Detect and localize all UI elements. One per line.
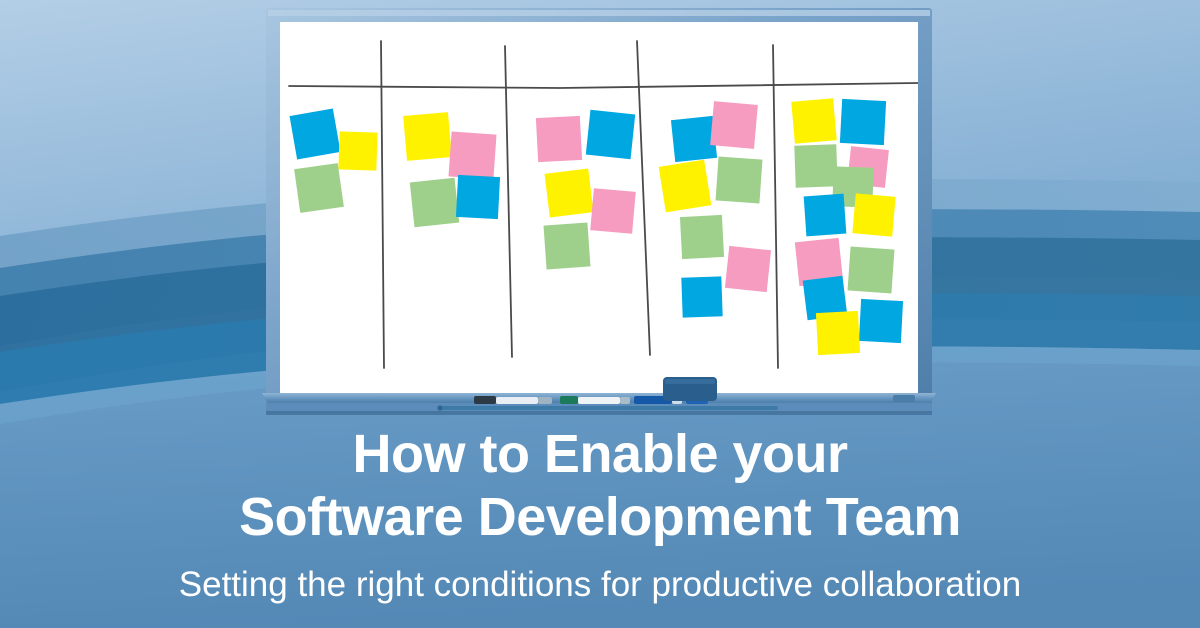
whiteboard bbox=[0, 0, 1200, 628]
sticky-note-green bbox=[848, 247, 895, 294]
pen-rail-end-left bbox=[437, 405, 442, 410]
sticky-note-pink bbox=[536, 116, 582, 162]
sticky-note-yellow bbox=[791, 98, 837, 144]
sticky-note-green bbox=[410, 178, 459, 227]
sticky-note-pink bbox=[725, 246, 771, 292]
poster-canvas: How to Enable your Software Development … bbox=[0, 0, 1200, 628]
marker-black bbox=[474, 396, 552, 404]
sticky-note-yellow bbox=[403, 112, 452, 161]
board-frame-top-highlight bbox=[268, 10, 930, 16]
sticky-note-blue bbox=[804, 194, 847, 237]
pen-rail bbox=[438, 406, 778, 410]
sticky-note-blue bbox=[290, 109, 341, 160]
sticky-note-blue bbox=[671, 116, 717, 162]
sticky-note-green bbox=[294, 163, 344, 213]
sticky-note-green bbox=[794, 144, 837, 187]
sticky-note-blue bbox=[681, 276, 722, 317]
sticky-note-yellow bbox=[852, 193, 895, 236]
sticky-note-blue bbox=[840, 99, 886, 145]
sticky-note-yellow bbox=[816, 311, 860, 355]
sticky-note-yellow bbox=[544, 168, 593, 217]
sticky-note-pink bbox=[448, 131, 496, 179]
sticky-note-blue bbox=[859, 299, 903, 343]
tray-tab-right bbox=[893, 395, 915, 402]
sticky-note-green bbox=[680, 215, 724, 259]
board-ledge-shadow bbox=[266, 411, 932, 415]
sticky-note-green bbox=[544, 223, 591, 270]
eraser-highlight bbox=[665, 379, 715, 384]
sticky-note-yellow bbox=[338, 131, 377, 170]
sticky-note-yellow bbox=[659, 160, 712, 213]
sticky-note-blue bbox=[586, 110, 635, 159]
sticky-note-blue bbox=[456, 175, 500, 219]
sticky-note-pink bbox=[710, 101, 758, 149]
sticky-note-pink bbox=[590, 188, 636, 234]
sticky-note-green bbox=[716, 157, 763, 204]
